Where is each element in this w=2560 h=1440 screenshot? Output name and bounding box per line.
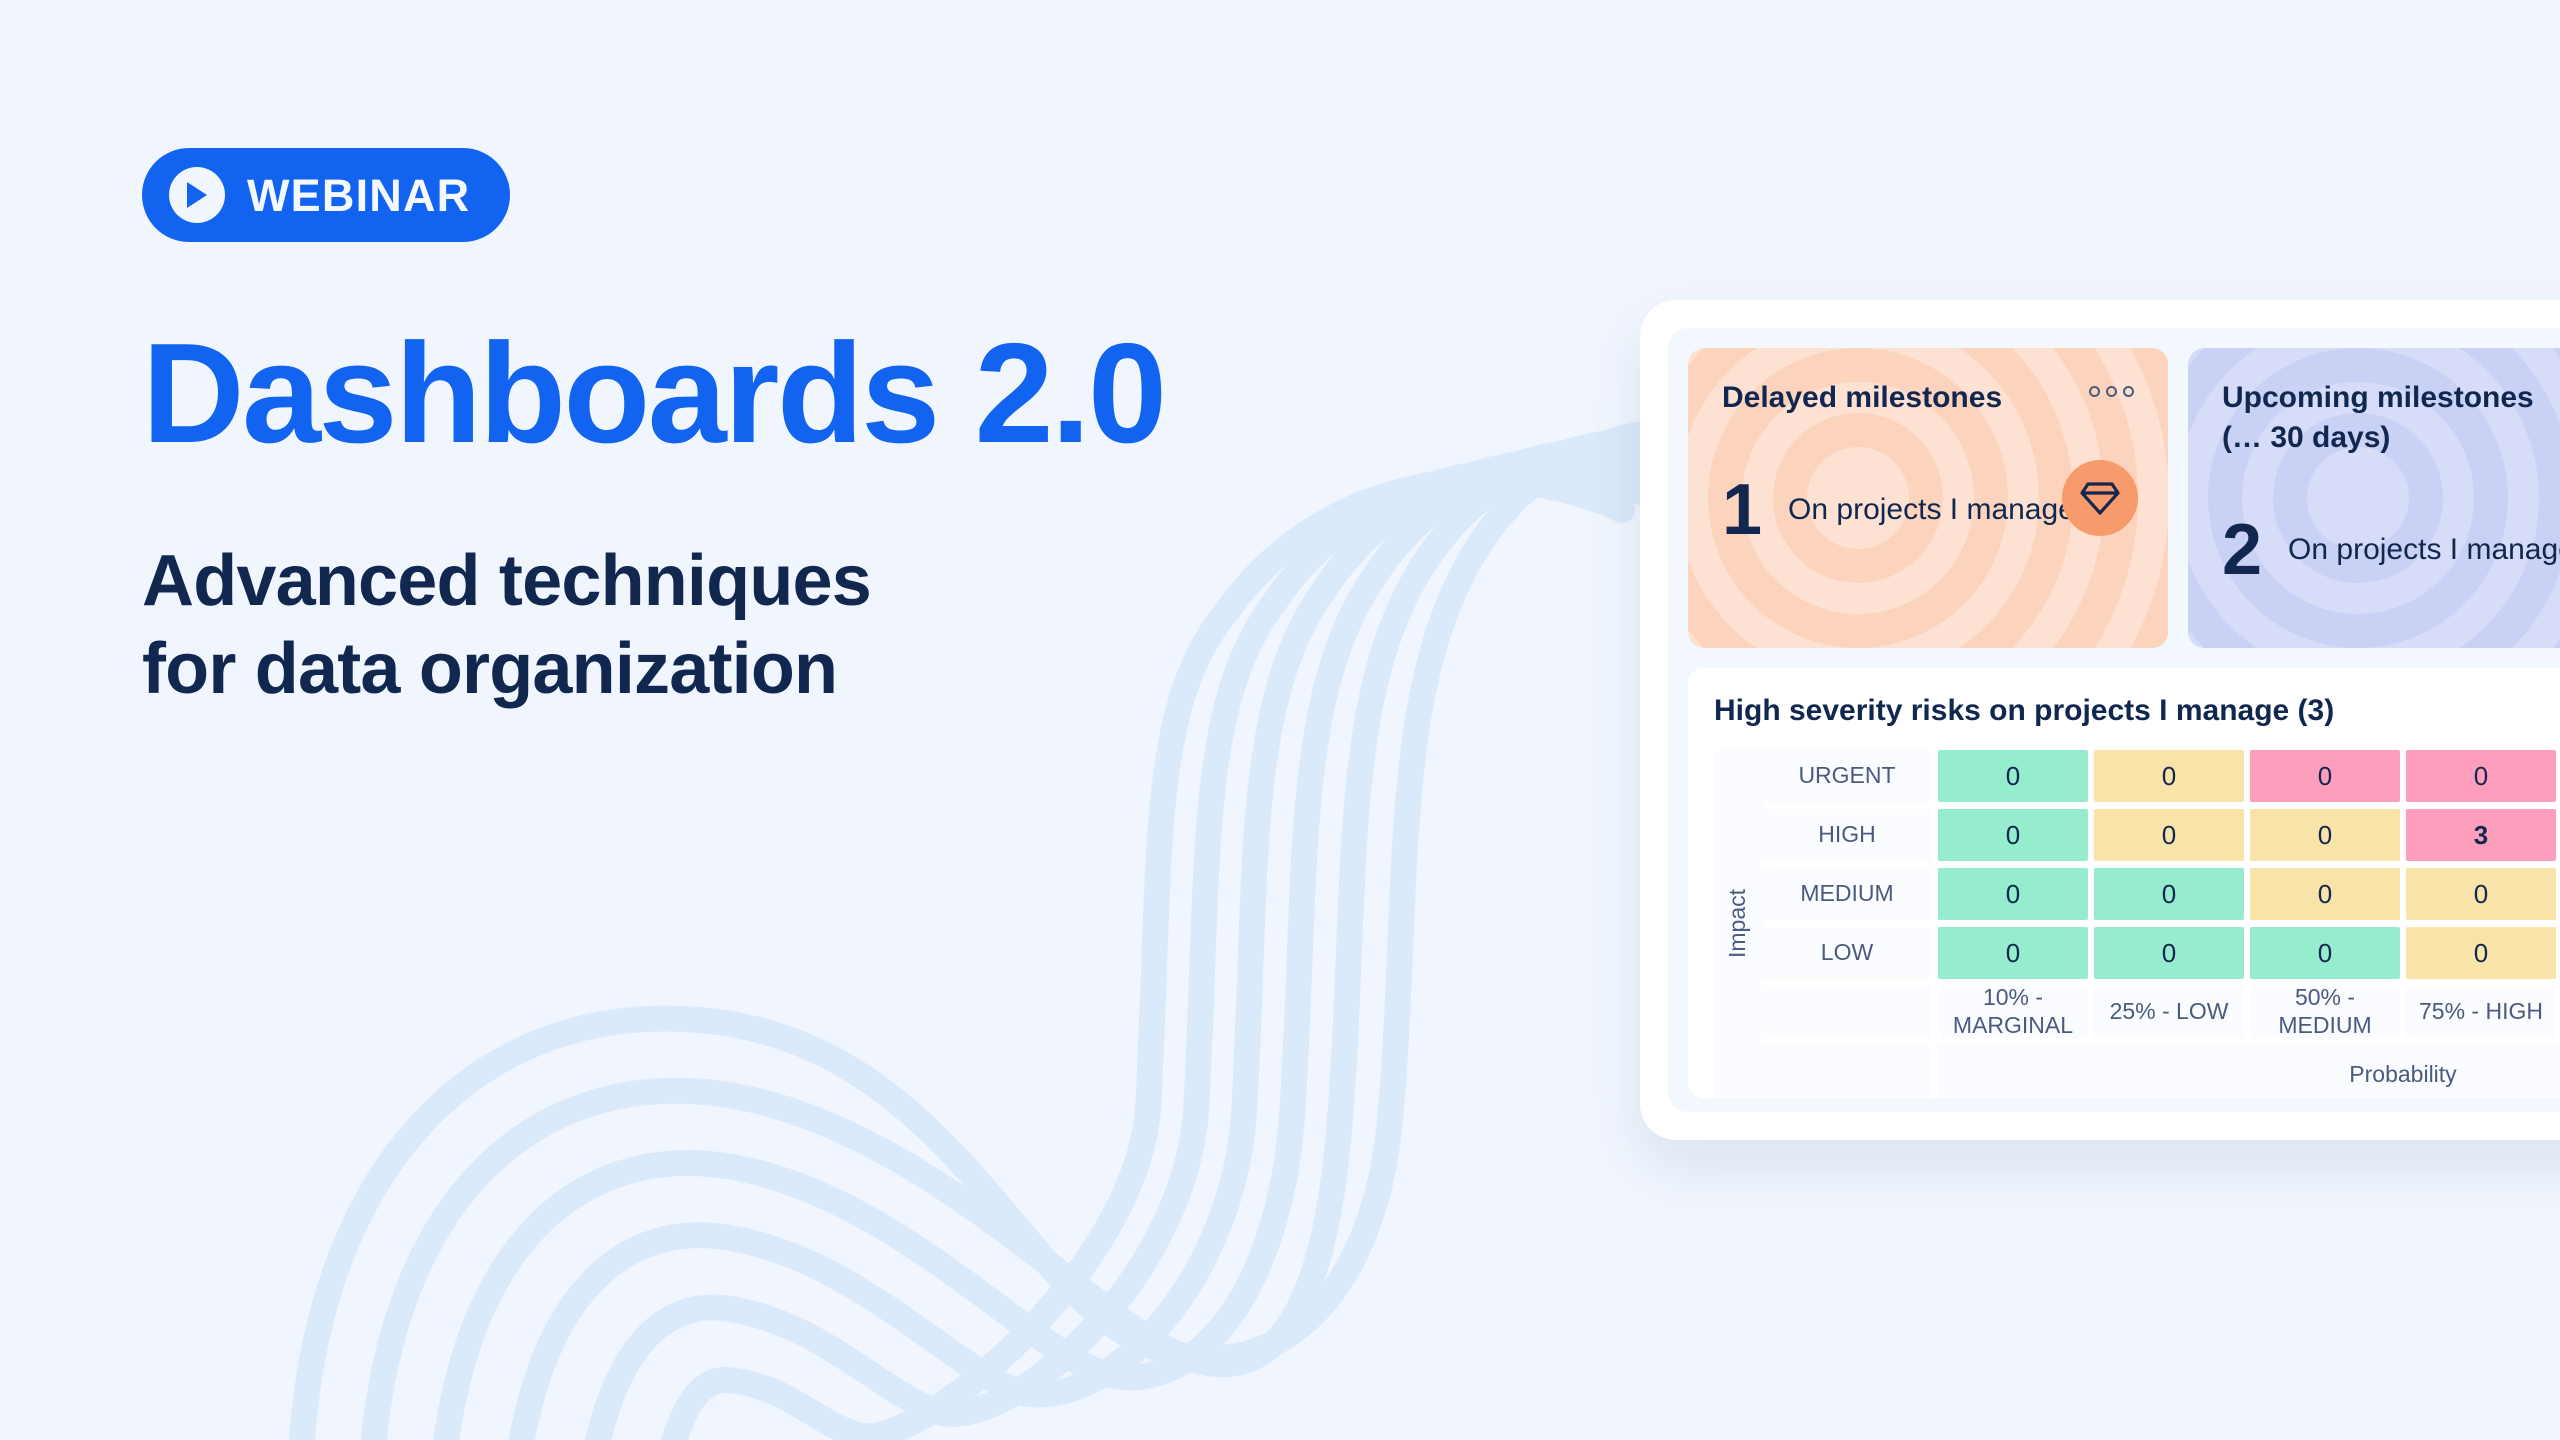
risk-matrix-row-label: LOW (1762, 927, 1932, 979)
risk-matrix-cell[interactable]: 0 (2094, 809, 2244, 861)
risk-matrix-cell[interactable]: 0 (1938, 927, 2088, 979)
stat-card-body: 2 On projects I manage (2222, 514, 2560, 586)
risk-matrix-cell[interactable]: 0 (1938, 868, 2088, 920)
risk-matrix-column-label: 10% - MARGINAL (1938, 986, 2088, 1038)
stat-card-value: 1 (1722, 474, 1762, 546)
stat-card-delayed-milestones[interactable]: Delayed milestones 1 On projects I manag… (1688, 348, 2168, 648)
webinar-badge-label: WEBINAR (247, 173, 470, 218)
risk-matrix-cell[interactable]: 0 (2406, 868, 2556, 920)
stat-card-title: Upcoming milestones (… 30 days) (2222, 378, 2560, 458)
risk-matrix: Impact URGENT000000HIGH000300MEDIUM00000… (1714, 750, 2560, 1097)
play-icon (169, 167, 225, 223)
risk-matrix-card: High severity risks on projects I manage… (1688, 668, 2560, 1098)
dashboard-preview-frame: Delayed milestones 1 On projects I manag… (1640, 300, 2560, 1140)
risk-matrix-cell[interactable]: 0 (2250, 750, 2400, 802)
dashboard-canvas: Delayed milestones 1 On projects I manag… (1668, 328, 2560, 1112)
page-title: Dashboards 2.0 (142, 323, 1165, 465)
risk-matrix-column-label: 25% - LOW (2094, 986, 2244, 1038)
risk-matrix-y-axis-label: Impact (1714, 750, 1762, 1097)
risk-matrix-cell[interactable]: 0 (2094, 927, 2244, 979)
stat-card-header: Delayed milestones (1722, 378, 2134, 418)
risk-matrix-title: High severity risks on projects I manage… (1714, 694, 2560, 728)
ellipsis-dot (2106, 386, 2117, 397)
ellipsis-dot (2123, 386, 2134, 397)
risk-matrix-cell[interactable]: 0 (2250, 809, 2400, 861)
hero-section: WEBINAR Dashboards 2.0 Advanced techniqu… (142, 148, 1165, 714)
stat-card-upcoming-milestones[interactable]: Upcoming milestones (… 30 days) 2 On pro… (2188, 348, 2560, 648)
ellipsis-dot (2089, 386, 2100, 397)
risk-matrix-corner-spacer (1762, 1045, 1932, 1097)
risk-matrix-column-label: 75% - HIGH (2406, 986, 2556, 1038)
risk-matrix-cell[interactable]: 0 (1938, 750, 2088, 802)
page-subtitle: Advanced techniques for data organizatio… (142, 538, 1165, 714)
page-subtitle-line-2: for data organization (142, 626, 1165, 714)
risk-matrix-cell[interactable]: 0 (2406, 750, 2556, 802)
ellipsis-icon[interactable] (2089, 378, 2134, 397)
page-subtitle-line-1: Advanced techniques (142, 538, 1165, 626)
risk-matrix-cell[interactable]: 0 (2250, 927, 2400, 979)
risk-matrix-column-label: 50% - MEDIUM (2250, 986, 2400, 1038)
risk-matrix-cell[interactable]: 3 (2406, 809, 2556, 861)
stat-card-caption: On projects I manage (2288, 535, 2560, 565)
stat-card-row: Delayed milestones 1 On projects I manag… (1688, 348, 2560, 648)
stat-card-title: Delayed milestones (1722, 378, 2002, 418)
risk-matrix-cell[interactable]: 0 (2406, 927, 2556, 979)
gem-icon (2062, 460, 2138, 536)
risk-matrix-row-label: MEDIUM (1762, 868, 1932, 920)
stat-card-caption: On projects I manage (1788, 495, 2075, 525)
risk-matrix-cell[interactable]: 0 (1938, 809, 2088, 861)
risk-matrix-cell[interactable]: 0 (2250, 868, 2400, 920)
risk-matrix-row-label: HIGH (1762, 809, 1932, 861)
stat-card-header: Upcoming milestones (… 30 days) (2222, 378, 2560, 458)
stat-card-value: 2 (2222, 514, 2262, 586)
risk-matrix-row-label: URGENT (1762, 750, 1932, 802)
risk-matrix-x-axis-label: Probability (1938, 1045, 2560, 1098)
risk-matrix-cell[interactable]: 0 (2094, 750, 2244, 802)
risk-matrix-grid: URGENT000000HIGH000300MEDIUM000000LOW000… (1762, 750, 2560, 1097)
risk-matrix-corner-spacer (1762, 986, 1932, 1038)
risk-matrix-cell[interactable]: 0 (2094, 868, 2244, 920)
webinar-badge[interactable]: WEBINAR (142, 148, 510, 242)
